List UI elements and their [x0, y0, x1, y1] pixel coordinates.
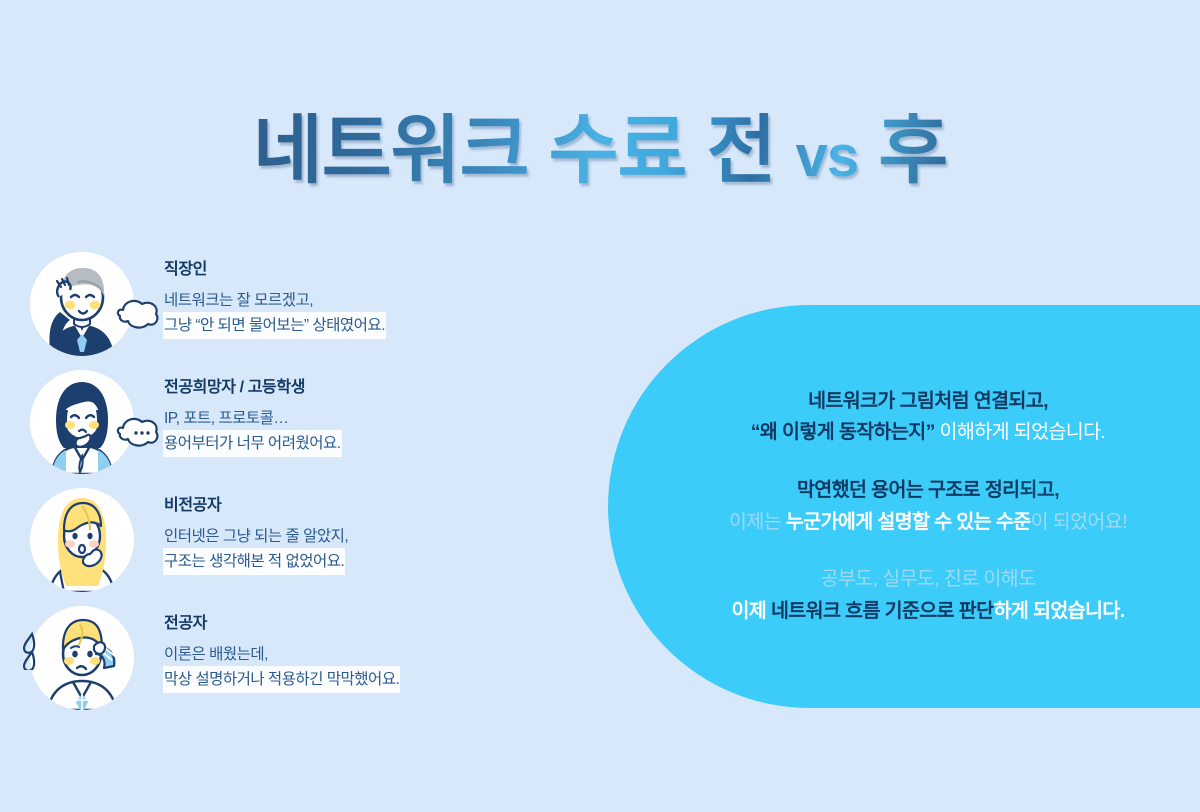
item-text: 직장인 네트워크는 잘 모르겠고, 그냥 “안 되면 물어보는” 상태였어요.	[164, 250, 554, 338]
title-area: 네트워크 수료 전 vs 후	[0, 96, 1200, 206]
item-line-1: 인터넷은 그냥 되는 줄 알았지,	[164, 524, 348, 549]
after-2-2-pale-pre: 이제는	[729, 511, 786, 533]
after-block-2-line-1: 막연했던 용어는 구조로 정리되고,	[648, 475, 1200, 507]
page-title-vs: vs	[796, 124, 859, 189]
after-3-1-pale: 공부도, 실무도, 진로 이해도	[821, 568, 1036, 590]
item-line-1: IP, 포트, 프로토콜…	[164, 406, 288, 431]
item-role: 전공자	[164, 614, 554, 633]
item-line-1: 이론은 배웠는데,	[164, 642, 268, 667]
after-block-1-line-2: “왜 이렇게 동작하는지” 이해하게 되었습니다.	[648, 417, 1200, 449]
before-list: 직장인 네트워크는 잘 모르겠고, 그냥 “안 되면 물어보는” 상태였어요.	[24, 250, 554, 722]
item-line-2: 용어부터가 너무 어려웠어요.	[164, 431, 341, 456]
item-text: 전공자 이론은 배웠는데, 막상 설명하거나 적용하긴 막막했어요.	[164, 604, 554, 692]
page-title-after: 후	[878, 108, 947, 193]
after-2-2-pale-post: 이 되었어요!	[1031, 511, 1127, 533]
after-block-3-line-1: 공부도, 실무도, 진로 이해도	[648, 564, 1200, 596]
after-1-2-navy: “왜 이렇게 동작하는지”	[751, 421, 935, 443]
after-2-1-navy: 되고,	[1020, 479, 1060, 501]
avatar-wrap	[24, 368, 164, 480]
after-2-2-white-bold: 누군가에게 설명할 수 있는 수준	[786, 511, 1031, 533]
page-title: 네트워크 수료 전 vs 후	[253, 113, 947, 189]
item-line-2: 그냥 “안 되면 물어보는” 상태였어요.	[164, 313, 385, 338]
sweat-drops-icon	[18, 630, 48, 670]
after-block-2-line-2: 이제는 누군가에게 설명할 수 있는 수준이 되었어요!	[648, 507, 1200, 539]
page-title-before: 네트워크 수료 전	[253, 108, 776, 193]
list-item: 전공희망자 / 고등학생 IP, 포트, 프로토콜… 용어부터가 너무 어려웠어…	[24, 368, 554, 486]
non-major-woman-avatar	[30, 488, 134, 592]
item-line-2: 막상 설명하거나 적용하긴 막막했어요.	[164, 667, 399, 692]
after-block-2: 막연했던 용어는 구조로 정리되고, 이제는 누군가에게 설명할 수 있는 수준…	[648, 475, 1200, 538]
sigh-puff-icon	[114, 294, 162, 334]
item-text: 비전공자 인터넷은 그냥 되는 줄 알았지, 구조는 생각해본 적 없었어요.	[164, 486, 554, 574]
item-role: 비전공자	[164, 496, 554, 515]
list-item: 전공자 이론은 배웠는데, 막상 설명하거나 적용하긴 막막했어요.	[24, 604, 554, 722]
after-panel: 네트워크가 그림처럼 연결되고, “왜 이렇게 동작하는지” 이해하게 되었습니…	[608, 305, 1200, 708]
item-line-1: 네트워크는 잘 모르겠고,	[164, 288, 313, 313]
after-3-2-navy-bold: 네트워크 흐름 기준으로 판단	[771, 600, 994, 622]
after-3-2-white-post: 하게 되었습니다.	[994, 600, 1125, 622]
after-1-2-white: 이해하게 되었습니다.	[935, 421, 1106, 443]
after-block-1: 네트워크가 그림처럼 연결되고, “왜 이렇게 동작하는지” 이해하게 되었습니…	[648, 386, 1200, 449]
thought-bubble-icon	[114, 412, 162, 452]
after-2-1-navy-bold: 막연했던 용어는 구조로 정리	[797, 479, 1020, 501]
after-block-3: 공부도, 실무도, 진로 이해도 이제 네트워크 흐름 기준으로 판단하게 되었…	[648, 564, 1200, 627]
avatar-wrap	[24, 250, 164, 362]
after-block-1-line-1: 네트워크가 그림처럼 연결되고,	[648, 386, 1200, 418]
list-item: 비전공자 인터넷은 그냥 되는 줄 알았지, 구조는 생각해본 적 없었어요.	[24, 486, 554, 604]
item-text: 전공희망자 / 고등학생 IP, 포트, 프로토콜… 용어부터가 너무 어려웠어…	[164, 368, 554, 456]
avatar-wrap	[24, 604, 164, 716]
item-line-2: 구조는 생각해본 적 없었어요.	[164, 549, 344, 574]
after-1-1-navy: 네트워크가 그림처럼 연결되고,	[808, 390, 1048, 412]
avatar-wrap	[24, 486, 164, 598]
item-role: 직장인	[164, 260, 554, 279]
list-item: 직장인 네트워크는 잘 모르겠고, 그냥 “안 되면 물어보는” 상태였어요.	[24, 250, 554, 368]
after-3-2-white-pre: 이제	[731, 600, 771, 622]
after-block-3-line-2: 이제 네트워크 흐름 기준으로 판단하게 되었습니다.	[648, 596, 1200, 628]
item-role: 전공희망자 / 고등학생	[164, 378, 554, 397]
